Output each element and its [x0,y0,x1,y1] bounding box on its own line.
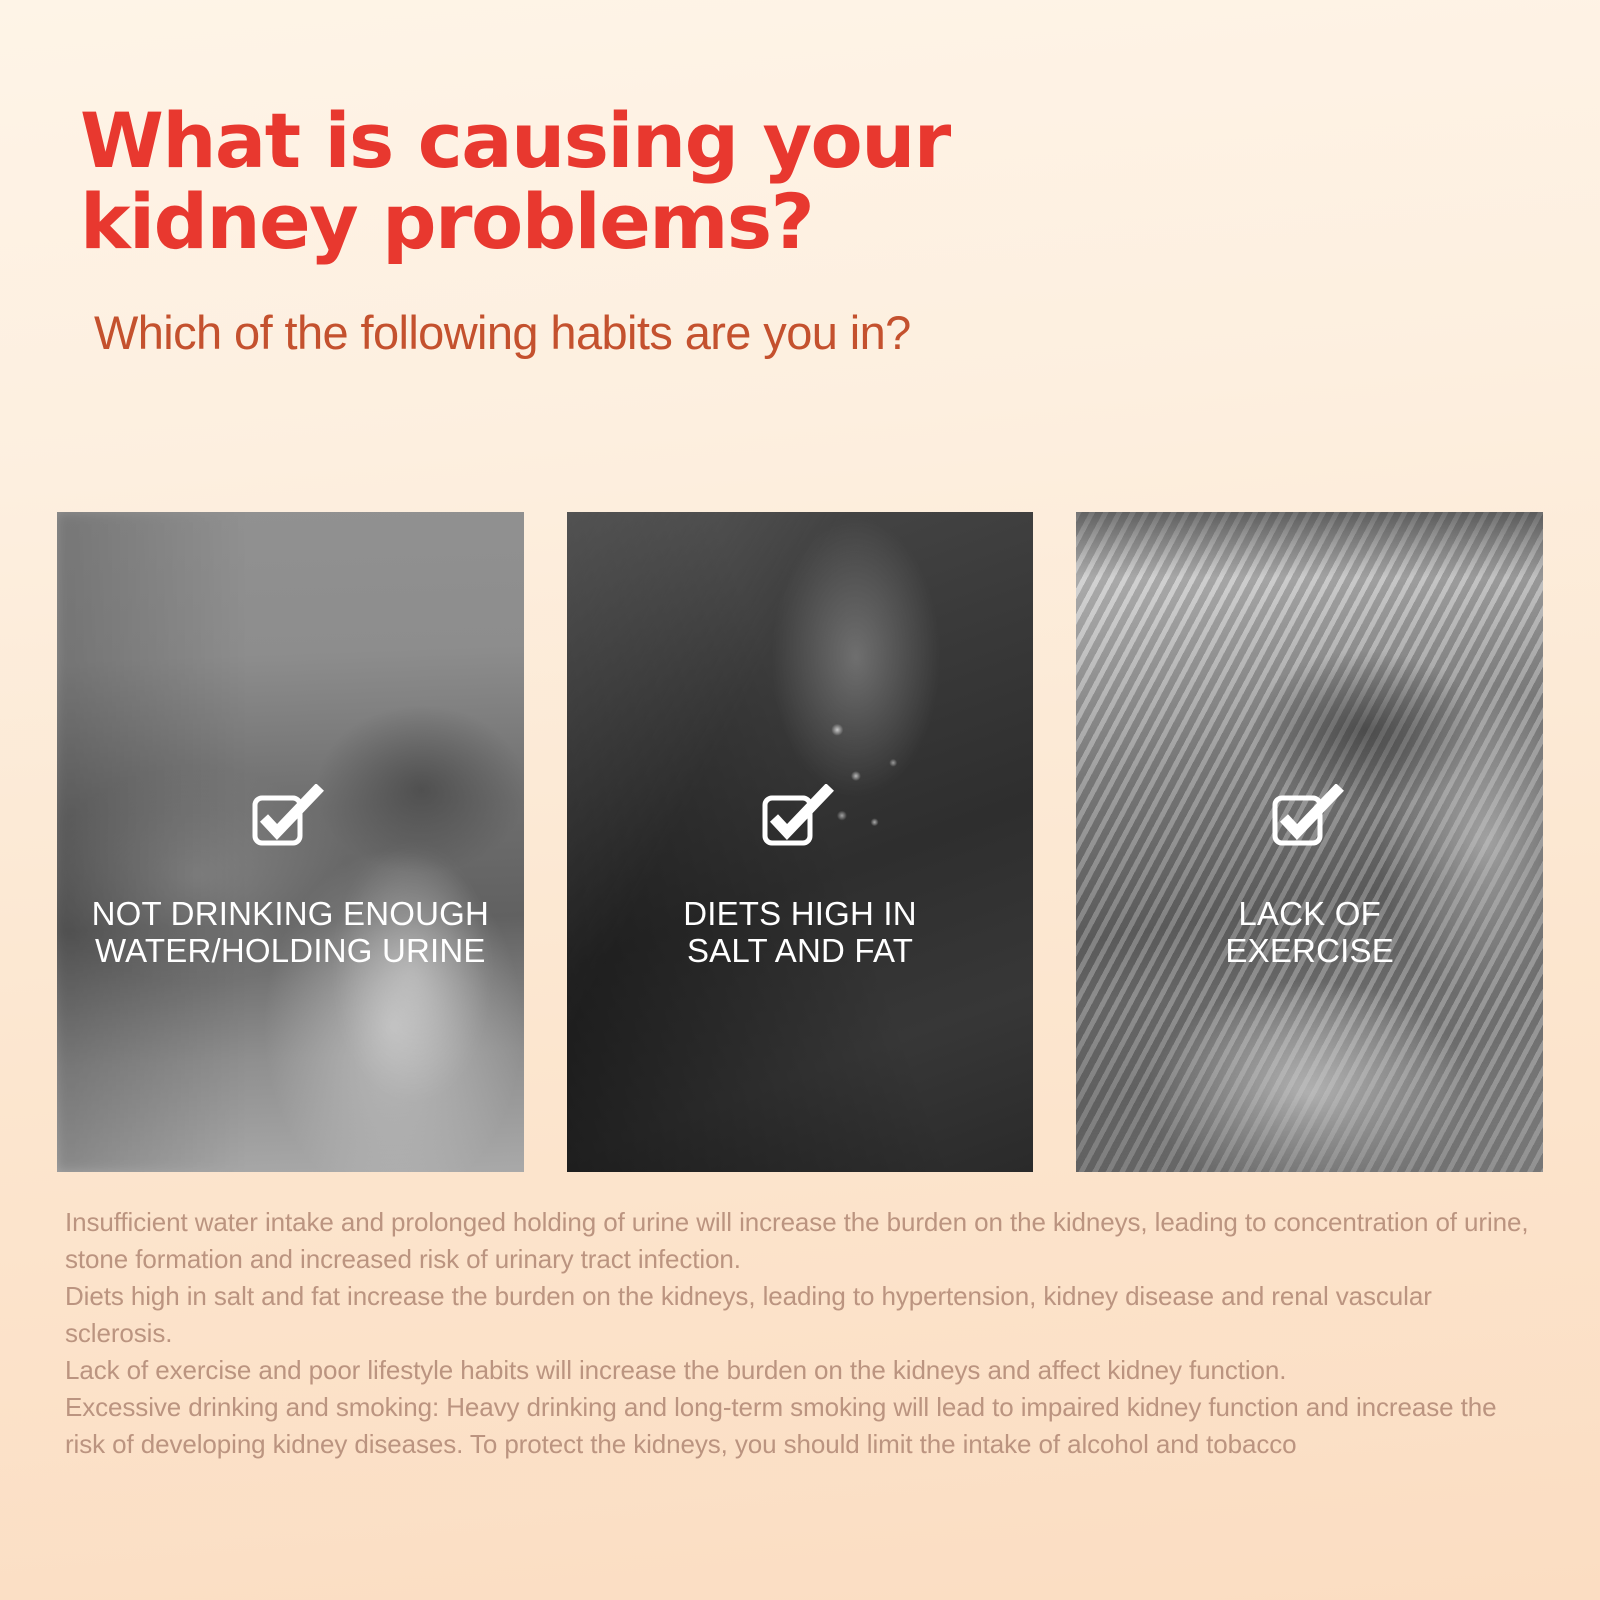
checkbox-checked-icon[interactable] [762,784,838,846]
page-title: What is causing your kidney problems? [80,100,960,263]
habit-card-label: NOT DRINKING ENOUGH WATER/HOLDING URINE [57,896,524,970]
habit-card-not-drinking-enough-water[interactable]: NOT DRINKING ENOUGH WATER/HOLDING URINE [57,512,524,1172]
header: What is causing your kidney problems? Wh… [0,0,1600,360]
habit-card-diets-high-in-salt-and-fat[interactable]: DIETS HIGH IN SALT AND FAT [567,512,1034,1172]
body-paragraphs: Insufficient water intake and prolonged … [65,1204,1535,1463]
habit-cards-row: NOT DRINKING ENOUGH WATER/HOLDING URINE … [57,512,1543,1172]
checkbox-checked-icon[interactable] [1272,784,1348,846]
page-subtitle: Which of the following habits are you in… [94,305,1600,360]
habit-card-lack-of-exercise[interactable]: LACK OF EXERCISE [1076,512,1543,1172]
habit-card-label: DIETS HIGH IN SALT AND FAT [567,896,1034,970]
habit-card-label: LACK OF EXERCISE [1076,896,1543,970]
checkbox-checked-icon[interactable] [252,784,328,846]
